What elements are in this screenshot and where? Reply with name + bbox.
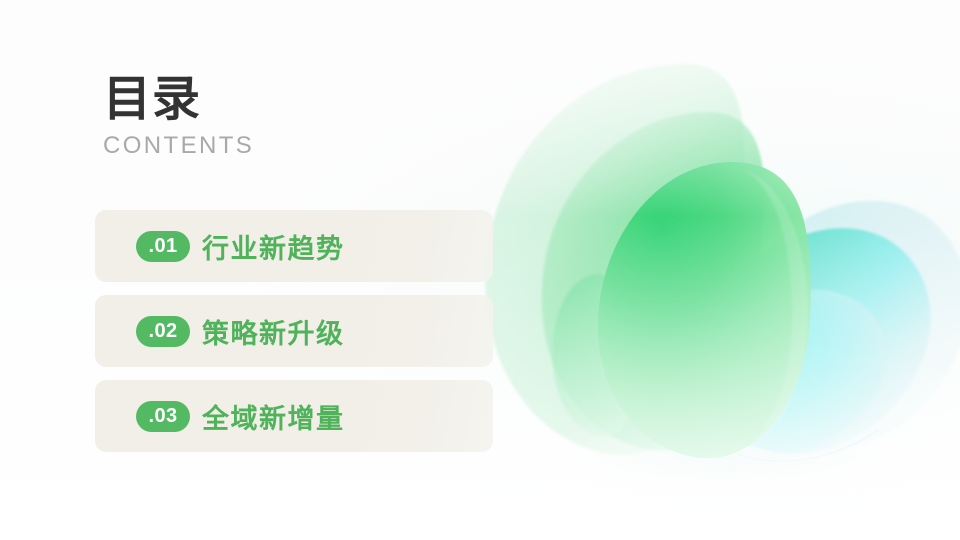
item-label-01: 行业新趋势 xyxy=(202,227,345,266)
petal-green-core xyxy=(598,162,811,458)
contents-item-03[interactable]: .03 全域新增量 xyxy=(95,380,493,452)
petal-teal-cyan xyxy=(709,228,931,454)
page-title: 目录 xyxy=(103,74,254,126)
contents-list: .01 行业新趋势 .02 策略新升级 .03 全域新增量 xyxy=(95,210,493,452)
contents-item-02[interactable]: .02 策略新升级 xyxy=(95,295,493,367)
petal-seam-line xyxy=(738,430,878,461)
abstract-3d-petal-cluster-decoration xyxy=(476,50,960,510)
petal-green-mid xyxy=(542,112,765,451)
slide-canvas: 目录 CONTENTS .01 行业新趋势 .02 策略新升级 .03 全域新增… xyxy=(0,0,960,540)
item-number-badge-02: .02 xyxy=(136,316,190,347)
item-number-badge-03: .03 xyxy=(136,401,190,432)
petal-green-outer xyxy=(485,64,744,455)
page-subtitle: CONTENTS xyxy=(103,132,254,160)
petal-ground-reflection xyxy=(531,418,921,498)
petal-green-nub xyxy=(553,274,637,436)
item-label-03: 全域新增量 xyxy=(202,397,345,436)
petal-cyan-inner xyxy=(707,290,887,450)
page-title-group: 目录 CONTENTS xyxy=(103,74,254,160)
petal-cyan-outer xyxy=(722,201,960,454)
item-number-badge-01: .01 xyxy=(136,231,190,262)
contents-item-01[interactable]: .01 行业新趋势 xyxy=(95,210,493,282)
petal-green-core-highlight xyxy=(738,170,808,454)
item-label-02: 策略新升级 xyxy=(202,312,345,351)
